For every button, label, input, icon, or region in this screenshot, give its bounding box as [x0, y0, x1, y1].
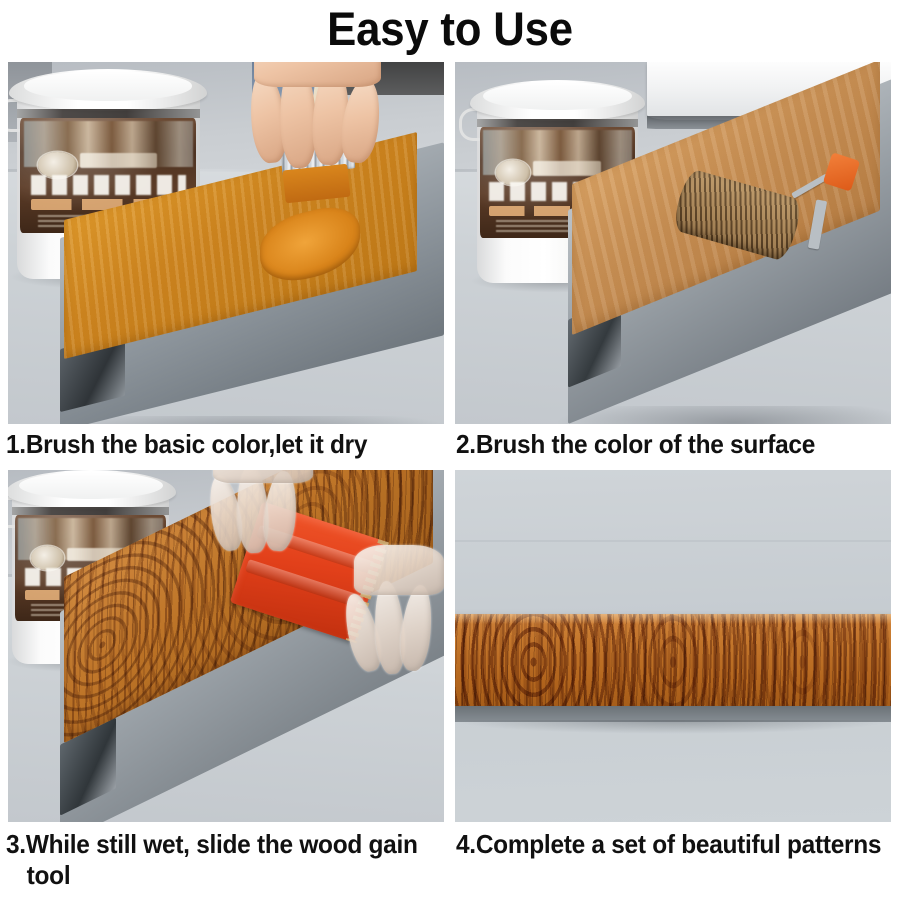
- step-3-caption: 3.While still wet, slide the wood gain t…: [6, 829, 459, 891]
- gloved-hand-left: [209, 470, 322, 562]
- step-1-photo: [8, 62, 444, 424]
- brand-logo-icon: [31, 546, 64, 569]
- tube-shadow: [455, 720, 891, 734]
- finished-wood-grain-tube: [455, 614, 891, 709]
- bucket-seal-ring: [17, 109, 200, 117]
- grain-cathedral-arcs: [455, 614, 891, 709]
- texture-roller: [673, 171, 856, 294]
- step-2-photo: [455, 62, 891, 424]
- roller-handle-shaft: [808, 200, 827, 250]
- hand-back: [354, 545, 444, 595]
- label-brand-text: [80, 153, 157, 168]
- hand-back: [213, 470, 313, 483]
- gloved-hand-right: [348, 562, 444, 682]
- step-4-photo: [455, 470, 891, 822]
- label-chinese-text: [31, 175, 186, 195]
- metal-tube: [60, 207, 444, 424]
- roller-nap: [670, 167, 804, 262]
- step-3-photo: [8, 470, 444, 822]
- finger-ring: [398, 584, 436, 673]
- bucket-seal-ring: [12, 507, 169, 515]
- table-seam: [455, 540, 891, 542]
- step-4-caption: 4.Complete a set of beautiful patterns: [456, 829, 900, 860]
- brand-logo-icon: [496, 160, 530, 185]
- hand-back: [254, 62, 381, 87]
- bucket-lid-top: [24, 71, 192, 100]
- bucket-lid-top: [19, 472, 163, 499]
- page-title: Easy to Use: [32, 2, 869, 58]
- board-highlight: [455, 614, 891, 624]
- infographic-page: Easy to Use: [0, 0, 900, 900]
- hand: [248, 62, 396, 178]
- step-1-caption: 1.Brush the basic color,let it dry: [6, 429, 468, 460]
- bucket-seal-ring: [477, 119, 638, 127]
- brand-logo-icon: [38, 152, 77, 177]
- step-2-caption: 2.Brush the color of the surface: [456, 429, 900, 460]
